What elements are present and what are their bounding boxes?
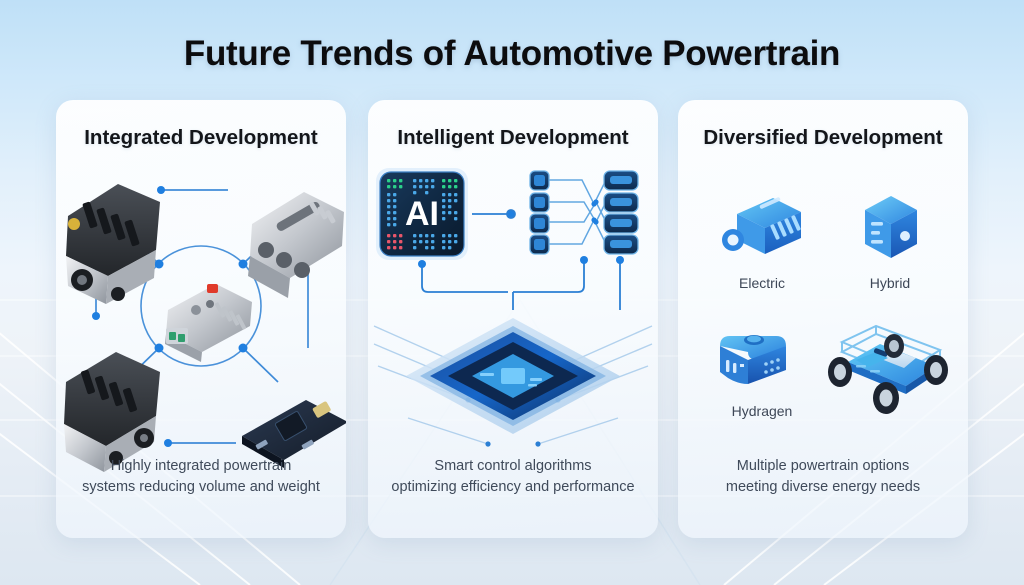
card-caption: Multiple powertrain options meeting dive…: [696, 456, 950, 498]
integrated-hub-diagram: [56, 158, 346, 478]
transmission-top-right-illustration: [248, 192, 344, 298]
engine-bottom-left-illustration: [64, 352, 160, 472]
electric-battery-icon: [719, 192, 805, 266]
card-title: Diversified Development: [678, 126, 968, 150]
card-title: Intelligent Development: [368, 126, 658, 150]
option-hydrogen[interactable]: Hydragen: [698, 322, 826, 419]
option-label: Hybrid: [830, 275, 950, 291]
ai-network-diagram: AI: [368, 158, 658, 478]
page-title: Future Trends of Automotive Powertrain: [0, 34, 1024, 74]
card-caption: Highly integrated powertrain systems red…: [74, 456, 328, 498]
network-nodes: [530, 171, 638, 254]
card-intelligent-development[interactable]: Intelligent Development: [368, 100, 658, 538]
ai-chip-panel: AI: [376, 168, 468, 260]
infographic-canvas: Future Trends of Automotive Powertrain I…: [0, 0, 1024, 585]
card-diversified-development[interactable]: Diversified Development: [678, 100, 968, 538]
processor-chip-illustration: [374, 318, 652, 447]
option-electric[interactable]: Electric: [702, 192, 822, 291]
ev-chassis-icon: [818, 310, 964, 416]
option-hybrid[interactable]: Hybrid: [830, 192, 950, 291]
card-caption: Smart control algorithms optimizing effi…: [386, 456, 640, 498]
control-module-illustration: [165, 284, 252, 362]
option-label: Hydragen: [698, 403, 826, 419]
option-ev-chassis[interactable]: [818, 310, 964, 425]
hydrogen-tank-icon: [714, 322, 810, 394]
engine-top-left-illustration: [66, 184, 160, 304]
card-title: Integrated Development: [56, 126, 346, 150]
option-label: Electric: [702, 275, 822, 291]
hybrid-module-icon: [847, 192, 933, 266]
ai-chip-label: AI: [405, 195, 439, 233]
card-integrated-development[interactable]: Integrated Development: [56, 100, 346, 538]
